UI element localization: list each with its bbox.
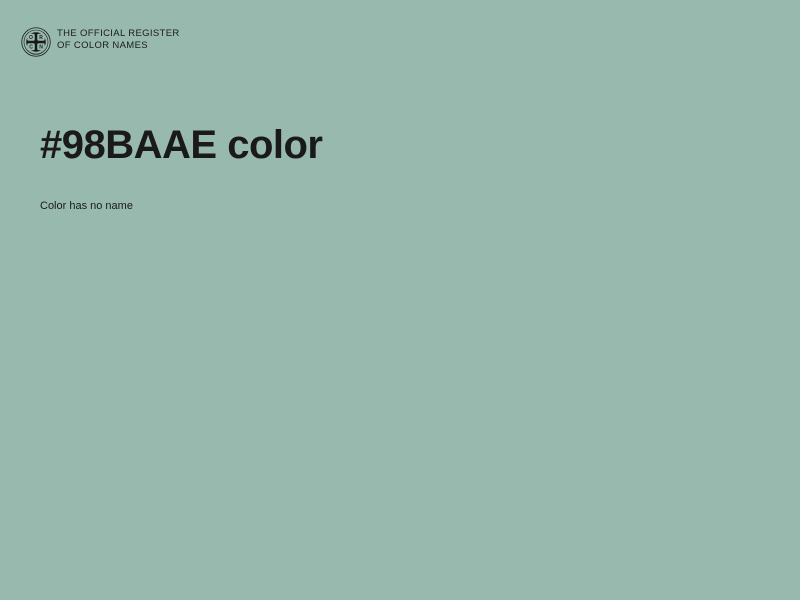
svg-text:N: N: [39, 45, 43, 51]
wordmark-line-2: OF COLOR NAMES: [57, 40, 180, 52]
page-title: #98BAAE color: [40, 120, 740, 170]
color-page: O R C N THE OFFICIAL REGISTER OF COLOR N…: [0, 0, 800, 600]
wordmark: THE OFFICIAL REGISTER OF COLOR NAMES: [57, 28, 180, 51]
color-info-block: #98BAAE color Color has no name: [40, 120, 740, 213]
brand-lockup[interactable]: O R C N THE OFFICIAL REGISTER OF COLOR N…: [21, 27, 180, 57]
svg-text:O: O: [29, 35, 33, 41]
official-register-seal-icon: O R C N: [21, 27, 51, 57]
color-name-status: Color has no name: [40, 170, 740, 213]
svg-text:C: C: [29, 45, 33, 51]
wordmark-line-1: THE OFFICIAL REGISTER: [57, 28, 180, 40]
svg-text:R: R: [39, 35, 43, 41]
